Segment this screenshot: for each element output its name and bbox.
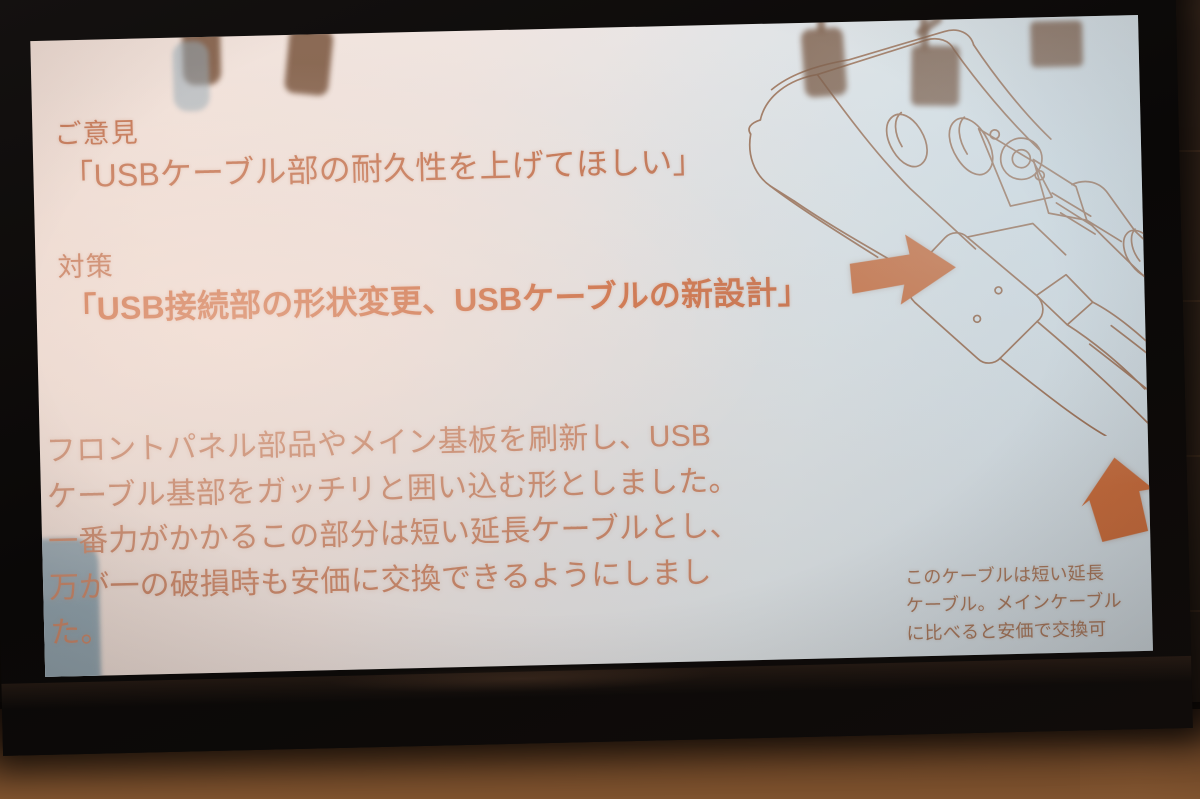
presentation-display: ご意見 「USBケーブル部の耐久性を上げてほしい」 対策 「USB接続部の形状変… [0, 0, 1193, 756]
hanging-object-silhouette [800, 27, 847, 98]
arrow-extension-cable-icon [1080, 455, 1153, 545]
room-photo: ご意見 「USBケーブル部の耐久性を上げてほしい」 対策 「USB接続部の形状変… [0, 0, 1200, 799]
slide-text-column: ご意見 「USBケーブル部の耐久性を上げてほしい」 対策 「USB接続部の形状変… [54, 101, 819, 332]
audience-head-silhouette [172, 41, 210, 112]
caption-line: ケーブル。メインケーブル [906, 587, 1153, 621]
hanging-object-silhouette [284, 27, 334, 97]
slide-body-paragraph: フロントパネル部品やメイン基板を刷新し、USB ケーブル基部をガッチリと囲い込む… [45, 411, 810, 657]
hanging-object-silhouette [1030, 20, 1083, 67]
hanging-object-silhouette [911, 45, 960, 106]
arrow-usb-housing-icon [847, 231, 959, 316]
caption-line: に比べると安価で交換可 [906, 614, 1153, 648]
illustration-caption: このケーブルは短い延長 ケーブル。メインケーブル に比べると安価で交換可 [905, 559, 1153, 649]
slide-canvas: ご意見 「USBケーブル部の耐久性を上げてほしい」 対策 「USB接続部の形状変… [30, 15, 1153, 677]
